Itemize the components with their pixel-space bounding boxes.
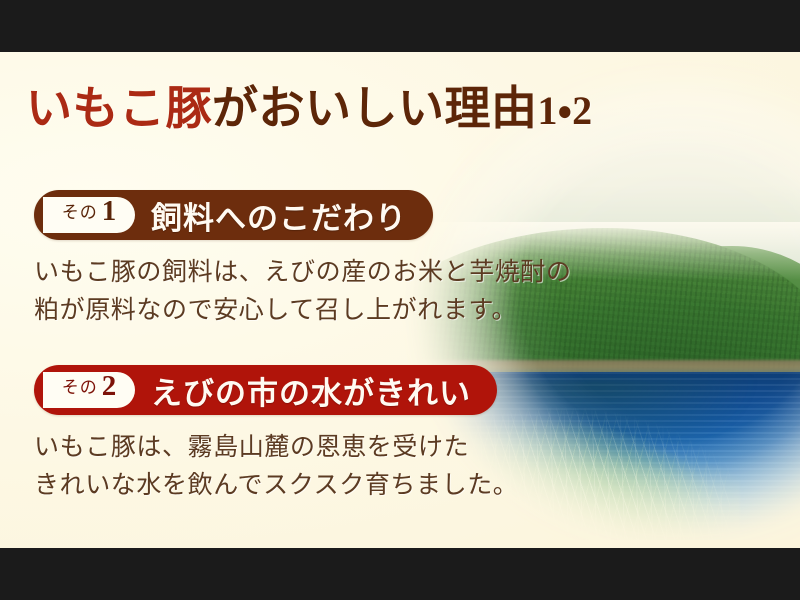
banner-canvas: いもこ豚がおいしい理由1・2 その 1 飼料へのこだわり いもこ豚の飼料は、えび…: [0, 52, 800, 548]
letterbox-bottom: [0, 548, 800, 600]
section-1-body-line-2: 粕が原料なので安心して召し上がれます。: [34, 292, 572, 330]
title-rest: がおいしい理由: [212, 83, 538, 134]
section-1-pill-prefix: その: [62, 198, 98, 223]
section-2-pill-prefix: その: [62, 373, 98, 398]
section-1-body-line-1: いもこ豚の飼料は、えびの産のお米と芋焼酎の: [34, 254, 572, 292]
section-2-heading: えびの市の水がきれい: [151, 368, 471, 413]
section-1-pill-number: 1: [102, 197, 117, 226]
section-1-pill: その 1: [43, 197, 135, 233]
letterbox-top: [0, 0, 800, 52]
title-highlight: いもこ豚: [26, 83, 212, 134]
section-1-heading: 飼料へのこだわり: [151, 193, 407, 238]
page-title: いもこ豚がおいしい理由1・2: [26, 86, 593, 132]
section-2-badge: その 2 えびの市の水がきれい: [34, 365, 497, 415]
section-2-pill-number: 2: [102, 372, 117, 401]
section-1-badge: その 1 飼料へのこだわり: [34, 190, 433, 240]
section-1: その 1 飼料へのこだわり いもこ豚の飼料は、えびの産のお米と芋焼酎の 粕が原料…: [34, 190, 572, 330]
banner-stage: いもこ豚がおいしい理由1・2 その 1 飼料へのこだわり いもこ豚の飼料は、えび…: [0, 0, 800, 600]
title-numbers: 1・2: [538, 88, 593, 133]
section-2-pill: その 2: [43, 372, 135, 408]
section-2-body-line-1: いもこ豚は、霧島山麓の恩恵を受けた: [34, 429, 518, 467]
section-2-body: いもこ豚は、霧島山麓の恩恵を受けた きれいな水を飲んでスクスク育ちました。: [34, 429, 518, 505]
section-1-body: いもこ豚の飼料は、えびの産のお米と芋焼酎の 粕が原料なので安心して召し上がれます…: [34, 254, 572, 330]
section-2-body-line-2: きれいな水を飲んでスクスク育ちました。: [34, 467, 518, 505]
section-2: その 2 えびの市の水がきれい いもこ豚は、霧島山麓の恩恵を受けた きれいな水を…: [34, 365, 518, 505]
